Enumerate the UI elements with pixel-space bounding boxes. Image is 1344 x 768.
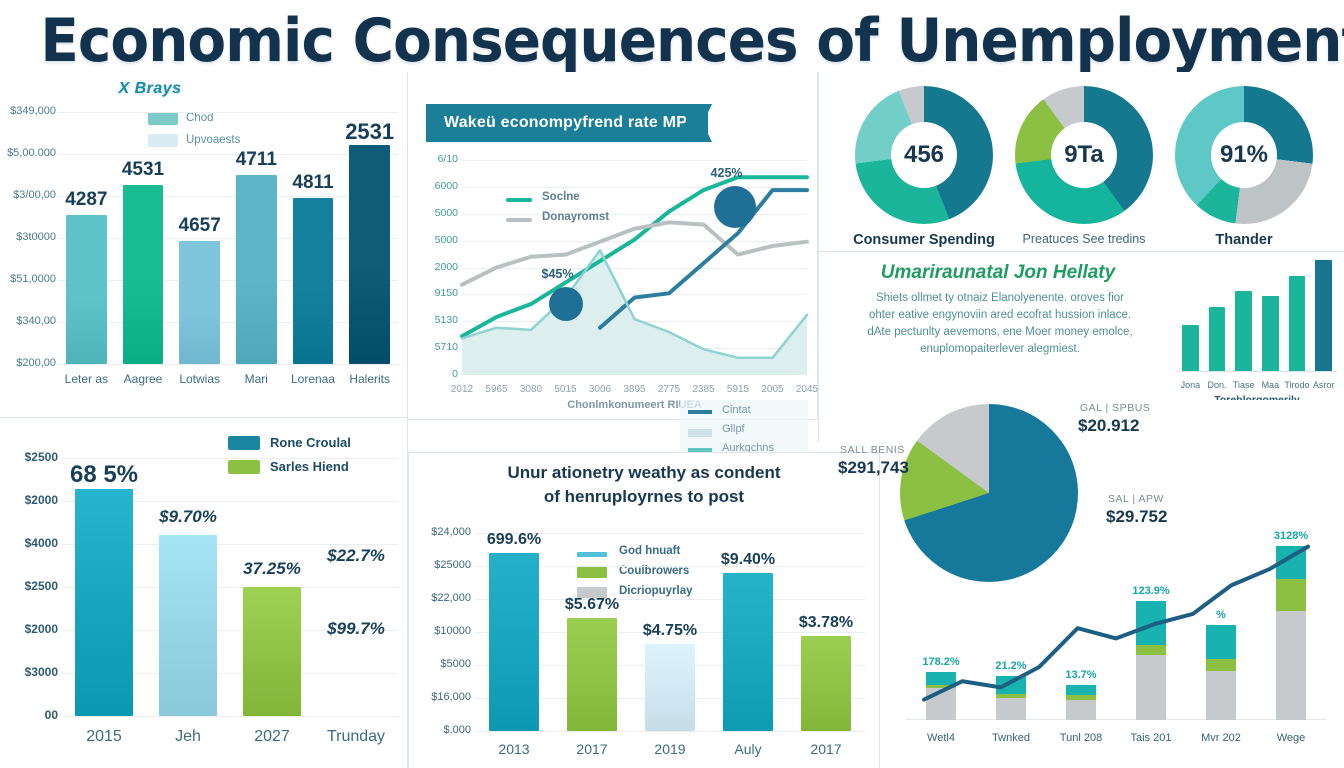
panel-pie-and-combo: SALL BENIS $291,743 GAL | SPBUS $20.912 … [880, 400, 1344, 768]
panel-line-chart: Wakeü econompyfrend rate MPM 6/106000500… [408, 72, 818, 420]
paragraph-line-2: dAte pectunlty aevemons, ene Moer money … [825, 324, 1175, 341]
legend-swatch-gllpf [688, 429, 712, 437]
pie-label-name-1: GAL | SPBUS [1080, 402, 1150, 414]
table-row [75, 489, 134, 716]
infographic-page: Economic Consequences of Unemployment X … [0, 0, 1344, 768]
table-row [801, 636, 851, 731]
x-axis-tick: 3006 [584, 384, 616, 395]
data-point-marker [549, 287, 583, 321]
mini-axis-line [1177, 371, 1337, 372]
area-fill-aurkgchns [462, 250, 807, 375]
bar-value-label: 4811 [279, 172, 348, 194]
y-axis-label: 9150 [410, 287, 458, 299]
y-axis-label: $5,00.000 [0, 147, 56, 159]
x-axis-label: 2017 [553, 741, 631, 757]
bar-value-label: $9.70% [139, 507, 238, 527]
right-paragraph: Shiets ollmet ty otnaiz Elanolyenente. o… [825, 290, 1175, 358]
pie-label-value-0: $291,743 [838, 458, 909, 478]
table-row [66, 215, 107, 364]
bar-value-label: $4.75% [627, 622, 713, 640]
x-axis-label: 2019 [631, 741, 709, 757]
line-series-svg [462, 160, 807, 375]
y-axis-label: 2000 [410, 261, 458, 273]
page-title: Economic Consequences of Unemployment [40, 6, 1303, 76]
bottom-left-plot-area: $2500$2000$4000$2500$2000$30000068 5%201… [62, 458, 398, 716]
gridline [58, 112, 398, 113]
table-row [489, 553, 539, 731]
combo-line-svg [906, 516, 1326, 720]
donut-caption-1: Preatuces See tredins [994, 232, 1174, 246]
y-axis-label: $22,000 [411, 592, 471, 604]
line-series-cintat [600, 190, 807, 328]
x-axis-label: Auly [709, 741, 787, 757]
y-axis-label: $4000 [2, 536, 58, 550]
bar-value-label: 4287 [52, 189, 121, 211]
donut-caption-0: Consumer Spending [834, 232, 1014, 248]
table-row [159, 535, 218, 716]
y-axis-label: $51,0000 [0, 273, 56, 285]
x-axis-tick: 2012 [446, 384, 478, 395]
y-axis-label: $2500 [2, 450, 58, 464]
legend-label-cintat: Cintat [722, 404, 751, 416]
y-axis-label: $2000 [2, 622, 58, 636]
legend-label-soclne: Soclne [542, 191, 580, 203]
pie-label-name-2: SAL | APW [1108, 493, 1164, 505]
data-point-label: $45% [542, 267, 574, 281]
bottom-mid-title-line2: of henruployrnes to post [429, 485, 859, 509]
x-axis-label: 2017 [787, 741, 865, 757]
y-axis-label: 6000 [410, 180, 458, 192]
bar-value-label: 4657 [165, 215, 234, 237]
legend-swatch-rone-croulal [228, 436, 260, 450]
gridline [58, 322, 398, 323]
bar-inner-label: $99.7% [315, 619, 398, 639]
y-axis-label: 5000 [410, 207, 458, 219]
donut-chart-1: 9Ta [1015, 86, 1153, 224]
bar-value-label: 4711 [222, 149, 291, 171]
y-axis-label: 5000 [410, 234, 458, 246]
ribbon-banner: Wakeü econompyfrend rate MPM [426, 104, 708, 142]
donut-caption-2: Thander [1154, 232, 1334, 248]
table-row [723, 573, 773, 731]
mini-bar-2 [1235, 291, 1252, 372]
table-row [645, 644, 695, 731]
pie-label-name-0: SALL BENIS [840, 444, 905, 456]
mini-bar-5 [1315, 260, 1332, 372]
bottom-mid-plot-area: $24,000$25000$22,000$10000$5000$16,000$.… [475, 533, 865, 731]
combo-x-label-4: Mvr 202 [1184, 732, 1257, 744]
panel-top-left-bar-chart: X Brays Chod Upvoaests $349,000$5,00.000… [0, 72, 408, 418]
table-row [243, 587, 302, 716]
mini-bar-3 [1262, 296, 1279, 372]
gridline [475, 731, 865, 732]
donut-chart-0: 456 [855, 86, 993, 224]
x-axis-tick: 2005 [757, 384, 789, 395]
line-plot-area: 6/10600050005000200091505130571002012596… [462, 160, 807, 375]
table-row [327, 574, 386, 716]
donut-center-value-2: 91% [1211, 122, 1277, 188]
y-axis-label: $2500 [2, 579, 58, 593]
x-axis-label: 2013 [475, 741, 553, 757]
y-axis-label: $2000 [2, 493, 58, 507]
gridline [58, 364, 398, 365]
table-row [236, 175, 277, 364]
donut-center-value-1: 9Ta [1051, 122, 1117, 188]
combo-chart: 178.2%Wetl421.2%Twnked13.7%Tunl 208123.9… [906, 600, 1326, 720]
table-row [293, 198, 334, 364]
y-axis-label: $24,000 [411, 526, 471, 538]
legend-label-gllpf: Gllpf [722, 423, 745, 435]
bar-value-label: $3.78% [783, 614, 869, 632]
panel-bottom-mid-bar-chart: Unur ationetry weathy as condent of henr… [408, 452, 880, 768]
x-axis-tick: 3080 [515, 384, 547, 395]
bar-plot-area: $349,000$5,00.000$3/00,00$3t0000$51,0000… [58, 112, 398, 364]
x-axis-tick: 5015 [550, 384, 582, 395]
y-axis-label: 0 [410, 368, 458, 380]
y-axis-label: $349,000 [0, 105, 56, 117]
mini-bar-chart: JonaDon.TiaseMaaTirodoAsrorTorehlorgomer… [1177, 260, 1337, 390]
pie-label-value-1: $20.912 [1078, 416, 1139, 436]
y-axis-label: 00 [2, 708, 58, 722]
bar-value-label: $22.7% [307, 546, 406, 566]
x-axis-label: Jeh [143, 728, 234, 746]
y-axis-label: 5710 [410, 341, 458, 353]
combo-x-label-5: Wege [1254, 732, 1327, 744]
panel-donut-charts: 456Consumer Spending9TaPreatuces See tre… [818, 72, 1344, 252]
paragraph-line-0: Shiets ollmet ty otnaiz Elanolyenente. o… [825, 290, 1175, 307]
combo-x-label-2: Tunl 208 [1044, 732, 1117, 744]
x-axis-tick: 3895 [619, 384, 651, 395]
mini-bar-1 [1209, 307, 1226, 372]
table-row [179, 241, 220, 364]
paragraph-line-1: ohter eative engynoviin ared ecofrat hus… [825, 307, 1175, 324]
y-axis-label: $200,00 [0, 357, 56, 369]
table-row [567, 618, 617, 731]
bar-value-label: $9.40% [705, 551, 791, 569]
bar-value-label: 68 5% [55, 461, 154, 489]
combo-x-label-3: Tais 201 [1114, 732, 1187, 744]
legend-label-donayromst: Donayromst [542, 211, 609, 223]
y-axis-label: $340,00 [0, 315, 56, 327]
donut-chart-2: 91% [1175, 86, 1313, 224]
line-series-donayromst [462, 222, 807, 284]
data-point-marker [714, 186, 756, 228]
x-axis-label: 2027 [227, 728, 318, 746]
legend-swatch-donayromst [506, 218, 532, 222]
panel-bottom-left-bar-chart: Rone Croulal Sarles Hiend $2500$2000$400… [0, 418, 408, 768]
bar-value-label: 2531 [335, 119, 404, 145]
gridline [62, 716, 398, 717]
right-heading: Umariraunatal Jon Hellaty [833, 262, 1163, 284]
table-row [123, 185, 164, 364]
x-axis-tick: 5965 [481, 384, 513, 395]
y-axis-label: $5000 [411, 658, 471, 670]
gridline [58, 280, 398, 281]
x-axis-label: Halerits [333, 372, 406, 386]
y-axis-label: $3t0000 [0, 231, 56, 243]
bottom-mid-title: Unur ationetry weathy as condent of henr… [429, 461, 859, 509]
ribbon-notch [686, 104, 712, 142]
table-row [349, 145, 390, 364]
y-axis-label: $.000 [411, 724, 471, 736]
legend-label-rone-croulal: Rone Croulal [270, 435, 351, 450]
gridline [62, 458, 398, 459]
x-axis-tick: 2775 [653, 384, 685, 395]
x-axis-tick: 2385 [688, 384, 720, 395]
y-axis-label: $3/00,00 [0, 189, 56, 201]
legend-swatch-cintat [688, 410, 712, 414]
x-axis-tick: 5915 [722, 384, 754, 395]
data-point-label: 425% [711, 166, 743, 180]
y-axis-label: $10000 [411, 625, 471, 637]
x-axis-label: Trunday [311, 728, 402, 746]
chart-title-x-brays: X Brays [0, 80, 300, 98]
bar-value-label: 699.6% [471, 531, 557, 549]
donut-center-value-0: 456 [891, 122, 957, 188]
bottom-mid-title-line1: Unur ationetry weathy as condent [429, 461, 859, 485]
combo-x-label-1: Twnked [974, 732, 1047, 744]
gridline [58, 238, 398, 239]
y-axis-label: 6/10 [410, 153, 458, 165]
bar-value-label: $5.67% [549, 596, 635, 614]
paragraph-line-3: enuplomopaiterlever alegmiest. [825, 341, 1175, 358]
combo-x-label-0: Wetl4 [904, 732, 977, 744]
combo-trend-line [924, 547, 1308, 700]
x-axis-label: 2015 [59, 728, 150, 746]
bar-value-label: 4531 [109, 159, 178, 181]
mini-bar-4 [1289, 276, 1306, 372]
legend-swatch-soclne [506, 198, 532, 202]
y-axis-label: 5130 [410, 314, 458, 326]
y-axis-label: $16,000 [411, 691, 471, 703]
mini-x-label-5: Asror [1308, 380, 1339, 390]
mini-bar-0 [1182, 325, 1199, 372]
y-axis-label: $3000 [2, 665, 58, 679]
y-axis-label: $25000 [411, 559, 471, 571]
